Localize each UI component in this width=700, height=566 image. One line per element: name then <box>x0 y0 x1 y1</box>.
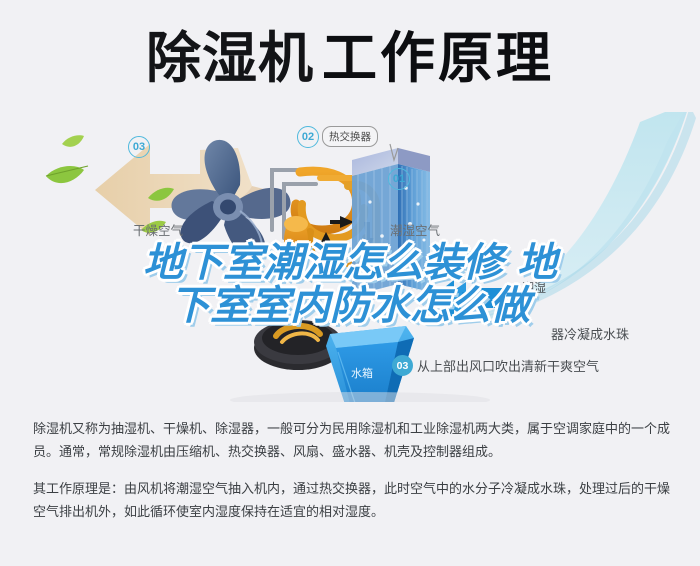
step-badge-03: 03 <box>128 136 150 158</box>
diagram-stage: 03 02 热交换器 01 干燥空气 潮湿空气 水箱 潮湿 器冷凝成水珠 03 … <box>0 112 700 402</box>
label-water-tank: 水箱 <box>351 365 373 381</box>
step-badge-02: 02 <box>297 126 319 148</box>
article-body: 除湿机又称为抽湿机、干燥机、除湿器，一般可分为民用除湿机和工业除湿机两大类，属于… <box>33 418 673 524</box>
step-badge-01: 01 <box>388 168 410 190</box>
label-dry-air: 干燥空气 <box>133 220 183 239</box>
dehumidifier-infographic: 除湿机 工作原理 <box>0 0 700 566</box>
body-paragraph-1: 除湿机又称为抽湿机、干燥机、除湿器，一般可分为民用除湿机和工业除湿机两大类，属于… <box>33 418 673 464</box>
page-title: 除湿机 工作原理 <box>0 18 700 98</box>
label-humid-air: 潮湿空气 <box>390 220 440 239</box>
body-paragraph-2: 其工作原理是：由风机将潮湿空气抽入机内，通过热交换器，此时空气中的水分子冷凝成水… <box>33 478 673 524</box>
page-title-part1: 除湿机 <box>146 31 314 86</box>
legend-badge-03: 03 <box>392 355 413 376</box>
heat-exchanger-callout: 热交换器 <box>322 126 378 147</box>
page-title-part2: 工作原理 <box>322 31 554 86</box>
legend-line-3: 从上部出风口吹出清新干爽空气 <box>417 356 599 375</box>
legend-fragment-condense: 器冷凝成水珠 <box>551 324 629 343</box>
legend-fragment-top: 潮湿 <box>522 279 546 296</box>
